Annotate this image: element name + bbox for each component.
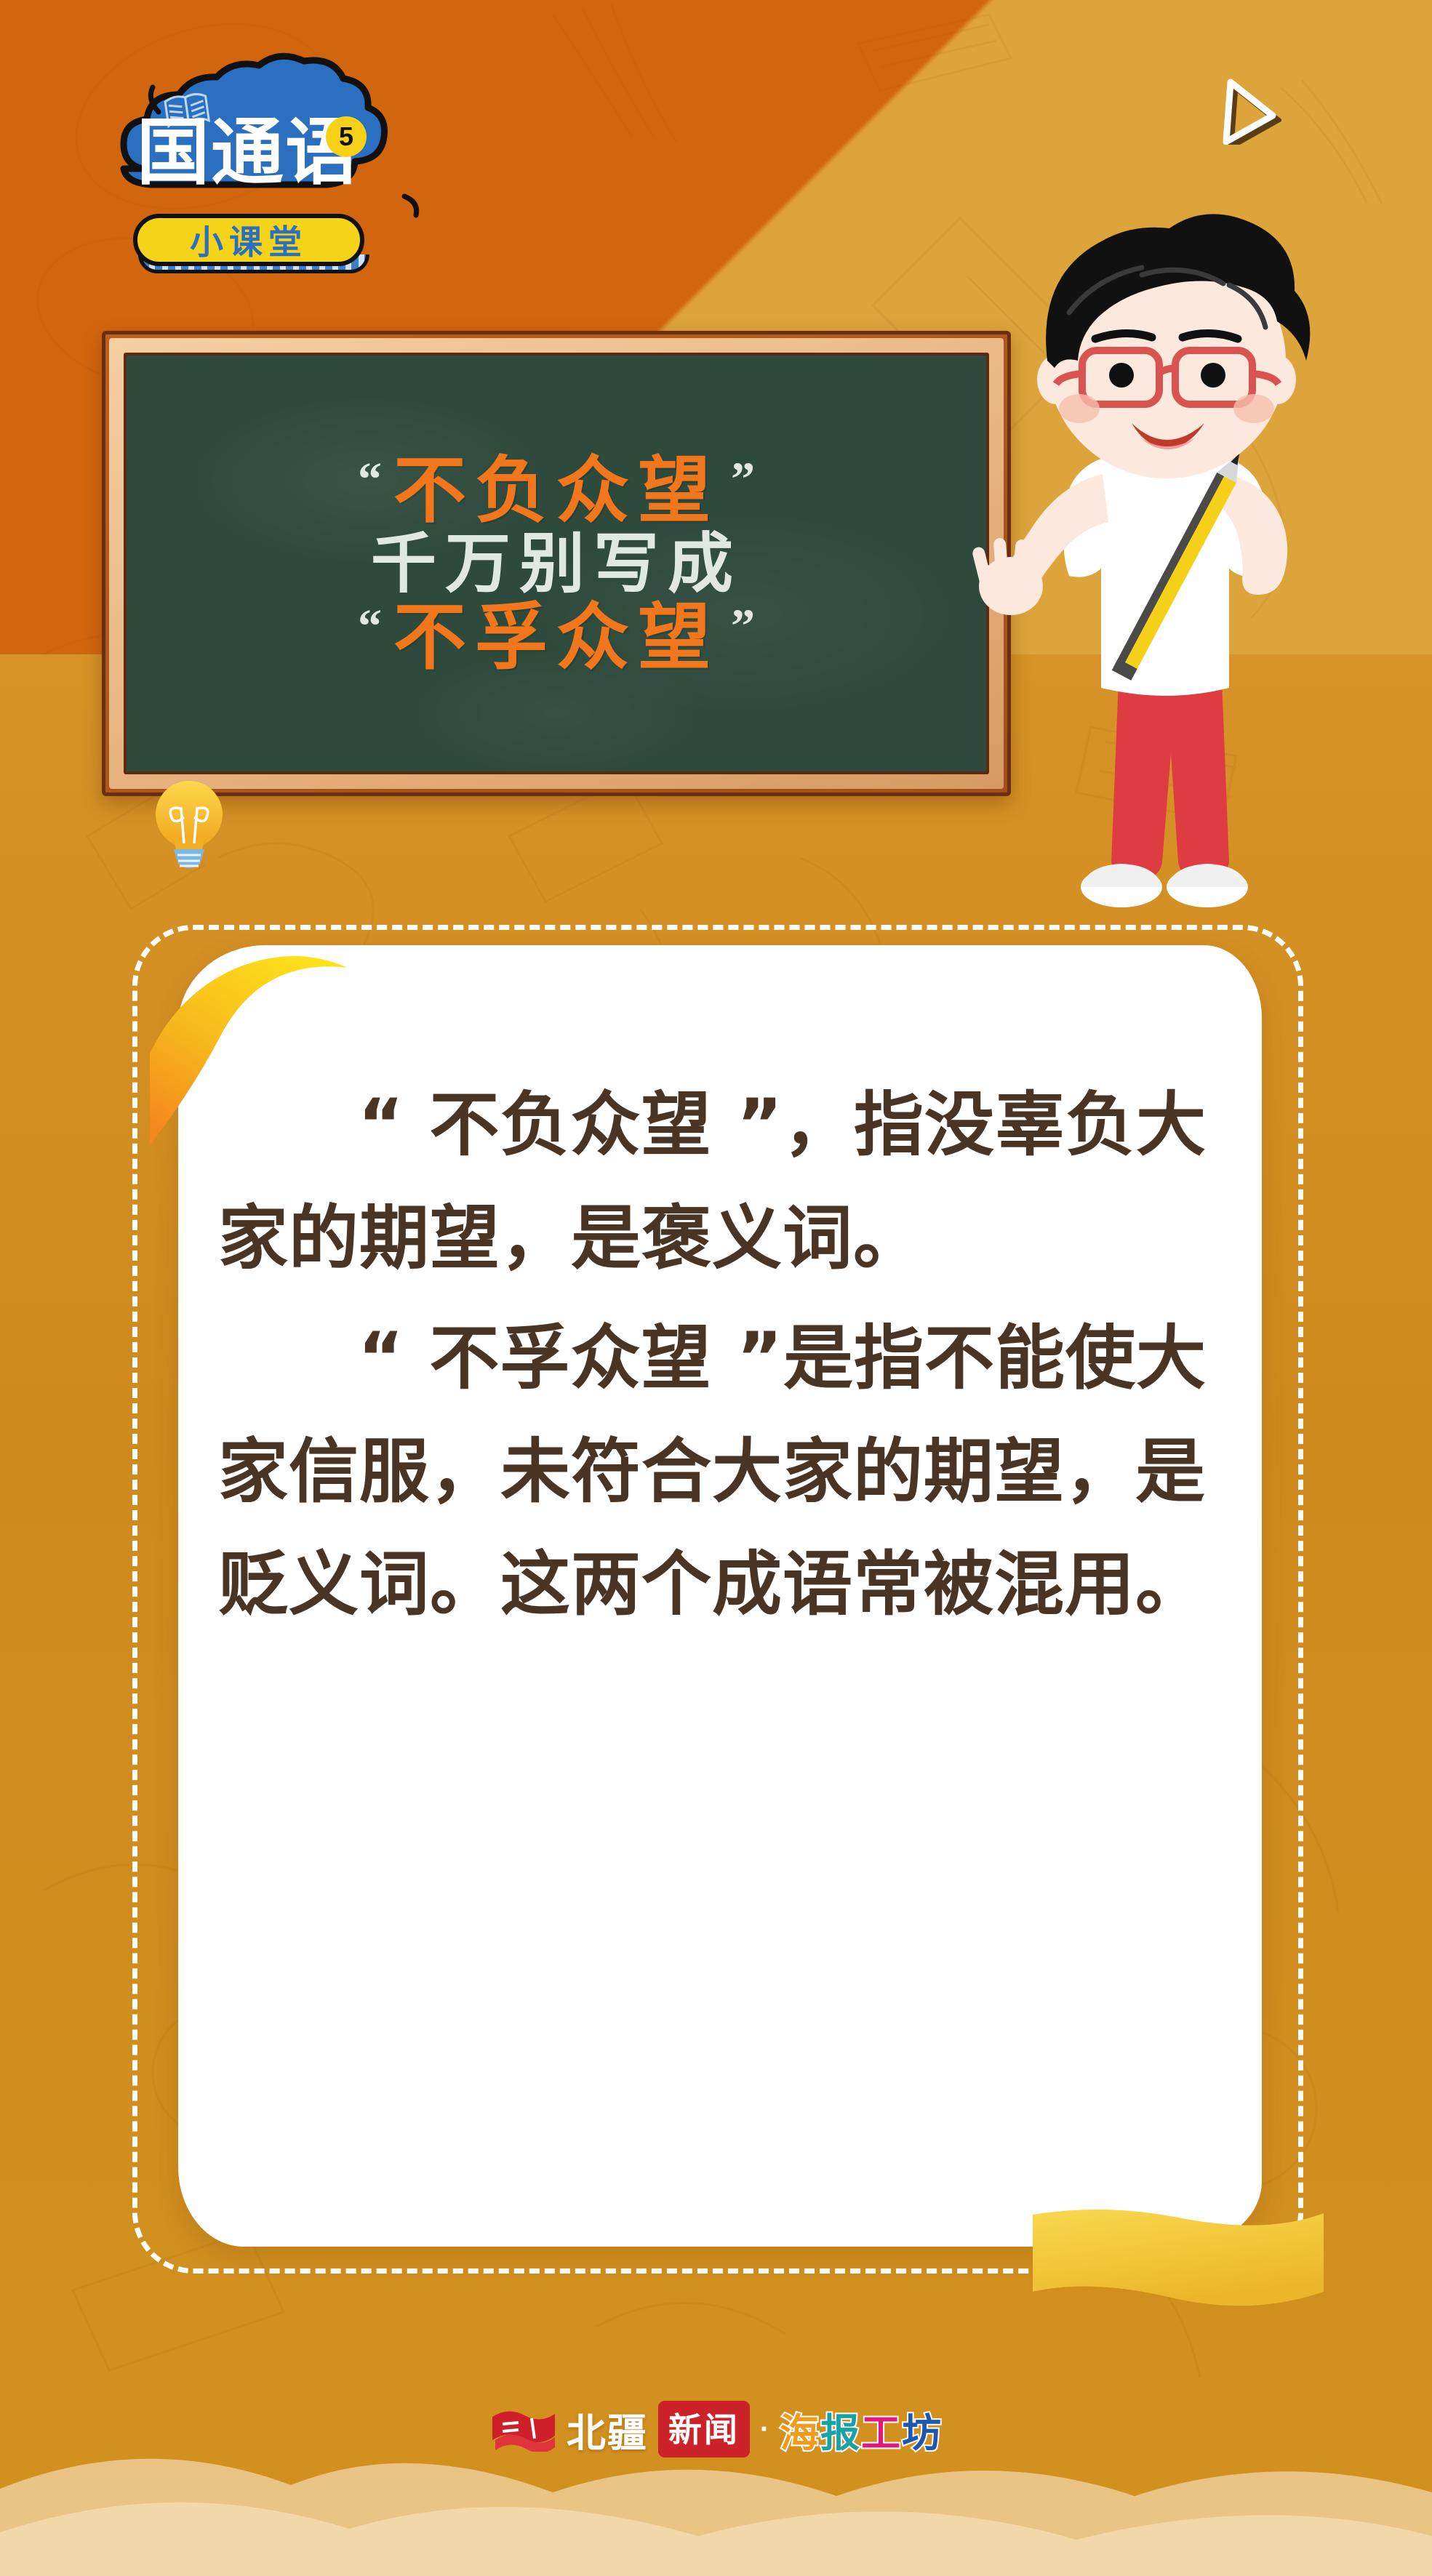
studio-char-4: 坊	[902, 2410, 943, 2456]
logo-subtitle: 小课堂	[133, 214, 364, 266]
red-flag-icon	[489, 2407, 556, 2452]
blackboard: “ 不负众望 ” 千万别写成 “ 不孚众望 ”	[102, 331, 1011, 796]
play-triangle-icon[interactable]	[1216, 78, 1281, 145]
footer-branding: 北疆 新闻 · 海报工坊	[0, 2396, 1432, 2462]
studio-char-2: 报	[820, 2410, 861, 2456]
studio-char-3: 工	[861, 2410, 902, 2456]
blackboard-phrase-3: 不孚众望	[393, 601, 719, 673]
blackboard-line-3: “ 不孚众望 ”	[346, 601, 767, 673]
blackboard-line-1: “ 不负众望 ”	[346, 454, 767, 526]
body-paragraph-1: “ 不负众望 ”，指没辜负大家的期望，是褒义词。	[218, 1069, 1222, 1295]
light-bulb-icon	[149, 771, 229, 880]
body-paragraph-2: “ 不孚众望 ”是指不能使大家信服，未符合大家的期望，是贬义词。这两个成语常被混…	[218, 1302, 1222, 1642]
brand-name: 北疆	[567, 2401, 648, 2458]
open-quote-1: “	[358, 456, 382, 504]
program-logo: 国通语 5 小课堂	[86, 81, 428, 289]
body-text: “ 不负众望 ”，指没辜负大家的期望，是褒义词。 “ 不孚众望 ”是指不能使大家…	[218, 1069, 1222, 1649]
open-quote-3: “	[358, 603, 382, 651]
logo-title: 国通语	[137, 116, 359, 189]
ribbon-fold-bottom-right	[1033, 2138, 1324, 2312]
boy-student-illustration	[960, 218, 1367, 960]
blackboard-phrase-1: 不负众望	[393, 454, 719, 526]
footer-separator: ·	[760, 2415, 769, 2444]
blackboard-surface: “ 不负众望 ” 千万别写成 “ 不孚众望 ”	[124, 353, 989, 774]
close-quote-1: ”	[731, 456, 755, 504]
logo-episode-badge: 5	[326, 116, 367, 157]
studio-char-1: 海	[780, 2410, 820, 2456]
news-badge: 新闻	[658, 2401, 750, 2457]
close-quote-3: ”	[731, 603, 755, 651]
blackboard-phrase-2: 千万别写成	[371, 531, 742, 596]
studio-name: 海报工坊	[780, 2401, 943, 2458]
poster-canvas: 国通语 5 小课堂 “ 不负众望 ” 千万别写成 “	[0, 0, 1432, 2576]
blackboard-line-2: 千万别写成	[371, 531, 742, 596]
